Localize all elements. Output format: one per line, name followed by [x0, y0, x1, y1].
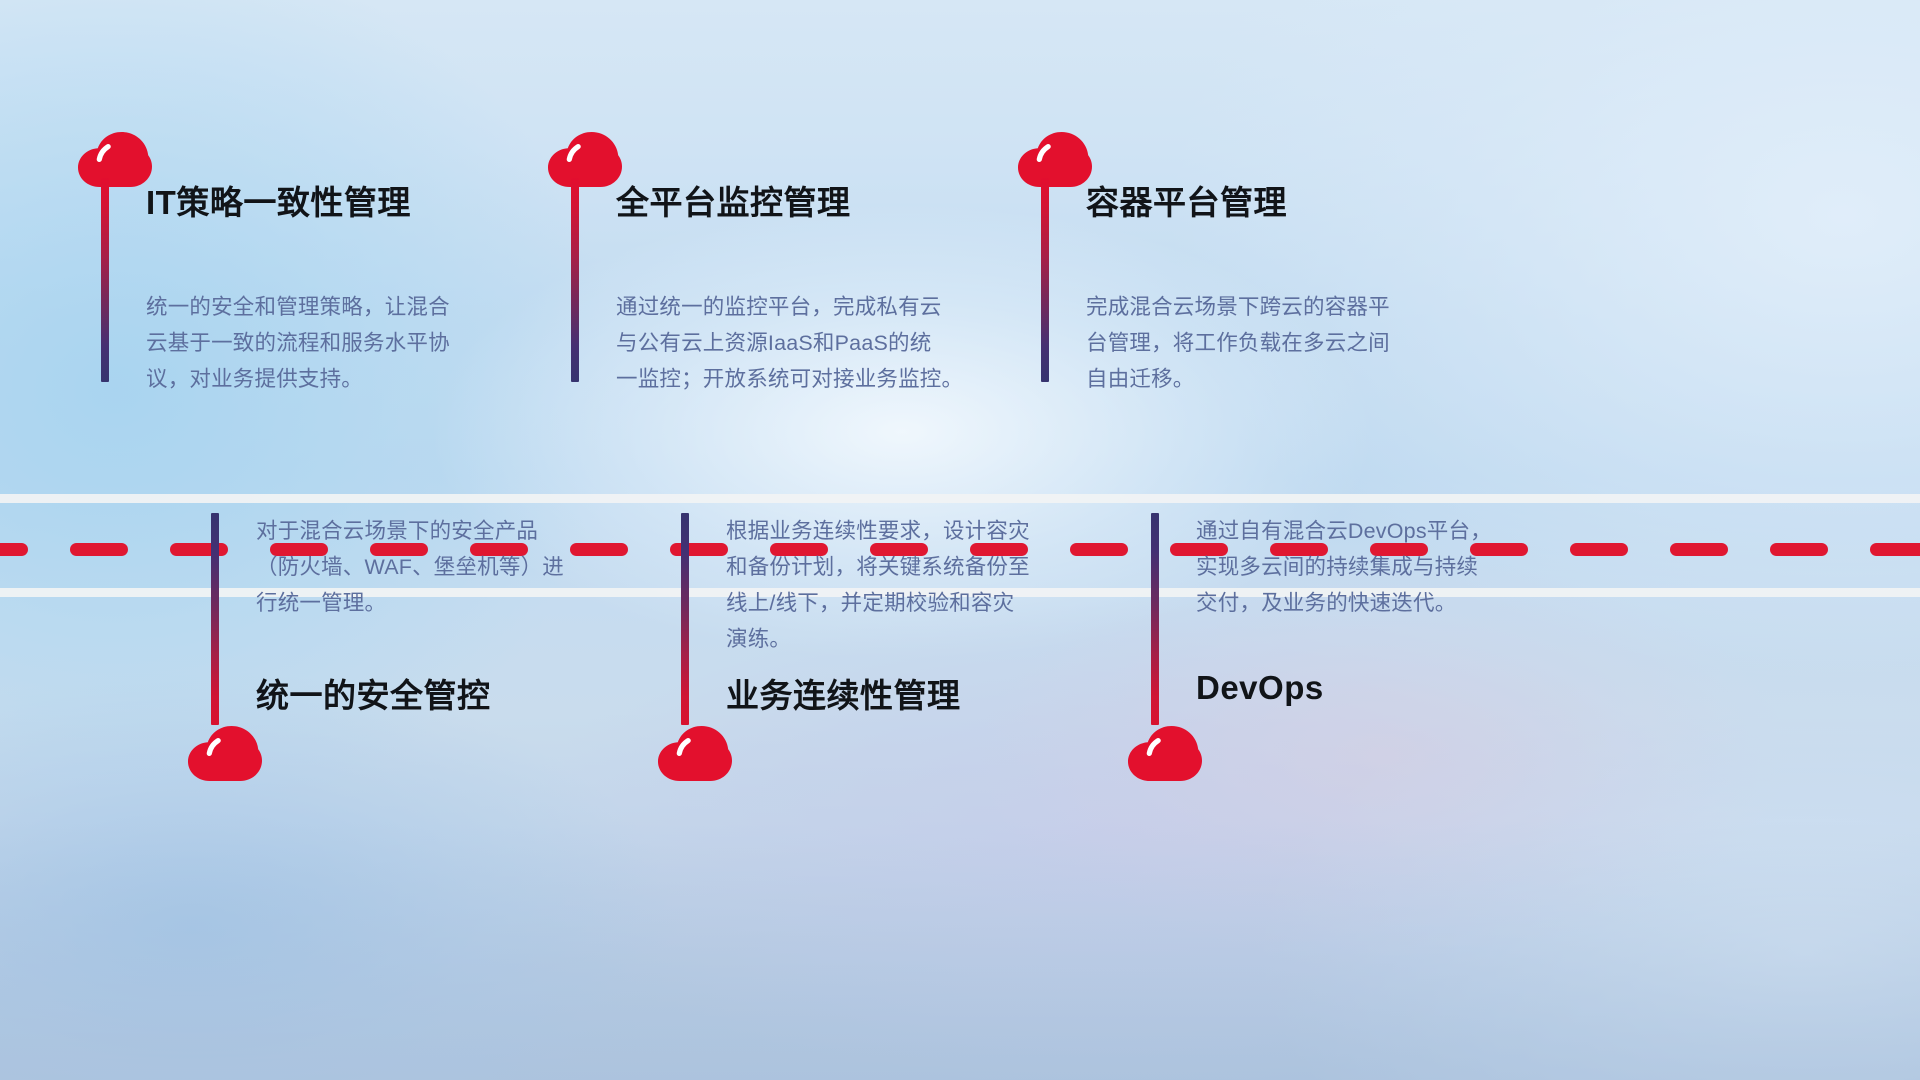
paragraph-line: 实现多云间的持续集成与持续 — [1196, 549, 1492, 585]
cloud-icon — [1128, 726, 1202, 782]
column-title: DevOps — [1196, 669, 1324, 707]
paragraph-line: 交付，及业务的快速迭代。 — [1196, 585, 1492, 621]
bottom-column-3: 通过自有混合云DevOps平台，实现多云间的持续集成与持续交付，及业务的快速迭代… — [0, 0, 1920, 1080]
infographic-canvas: IT策略一致性管理统一的安全和管理策略，让混合云基于一致的流程和服务水平协议，对… — [0, 0, 1920, 1080]
stem-connector — [1151, 513, 1159, 725]
paragraph-line: 通过自有混合云DevOps平台， — [1196, 513, 1492, 549]
column-description: 通过自有混合云DevOps平台，实现多云间的持续集成与持续交付，及业务的快速迭代… — [1196, 513, 1492, 621]
